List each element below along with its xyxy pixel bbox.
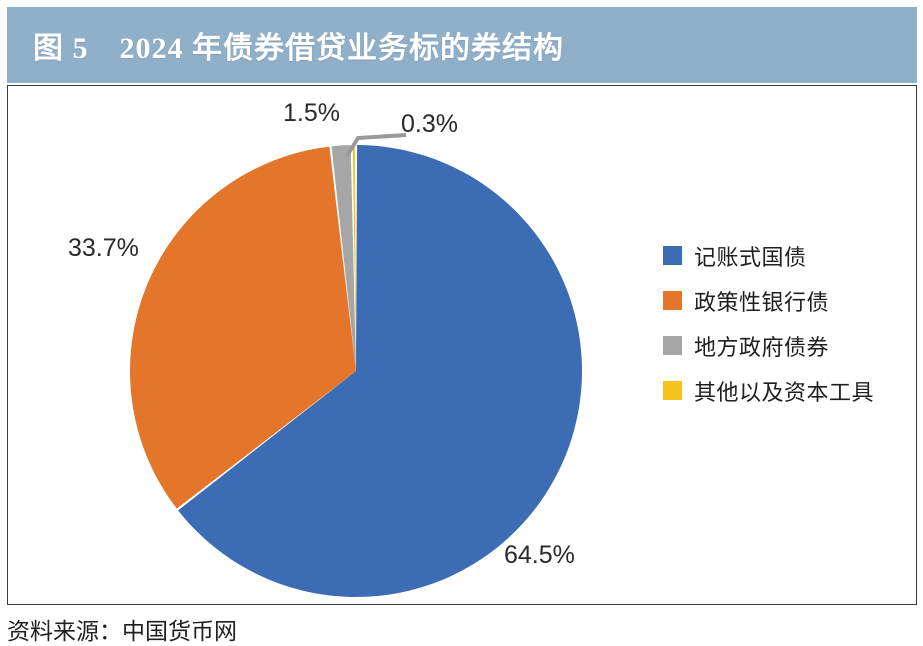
legend-label: 其他以及资本工具	[694, 375, 874, 407]
pie-label-local-government-bonds: 1.5%	[283, 99, 340, 128]
legend-item-local-government-bonds[interactable]: 地方政府债券	[663, 323, 893, 368]
pie-label-treasury-bonds: 64.5%	[504, 541, 575, 570]
legend-item-other-capital-tools[interactable]: 其他以及资本工具	[663, 368, 893, 413]
chart-legend: 记账式国债 政策性银行债 地方政府债券 其他以及资本工具	[663, 233, 893, 413]
legend-swatch-icon	[663, 246, 682, 265]
legend-label: 记账式国债	[694, 240, 807, 272]
legend-label: 地方政府债券	[694, 330, 829, 362]
legend-item-policy-bank-bonds[interactable]: 政策性银行债	[663, 278, 893, 323]
pie-chart-svg	[126, 141, 586, 601]
legend-item-treasury-bonds[interactable]: 记账式国债	[663, 233, 893, 278]
legend-swatch-icon	[663, 381, 682, 400]
legend-label: 政策性银行债	[694, 285, 829, 317]
figure-title: 图 5 2024 年债券借贷业务标的券结构	[33, 23, 564, 67]
legend-swatch-icon	[663, 336, 682, 355]
pie-label-policy-bank-bonds: 33.7%	[68, 234, 139, 263]
leader-line-other-capital-tools	[338, 116, 408, 156]
pie-label-other-capital-tools: 0.3%	[401, 110, 458, 139]
chart-plot-area: 64.5% 33.7% 1.5% 0.3% 记账式国债 政策性银行债 地方政府债…	[7, 85, 917, 605]
figure-title-bar: 图 5 2024 年债券借贷业务标的券结构	[7, 7, 917, 83]
source-note: 资料来源：中国货币网	[7, 612, 237, 646]
pie-chart	[126, 141, 586, 601]
pie-slice-group	[130, 145, 582, 597]
legend-swatch-icon	[663, 291, 682, 310]
